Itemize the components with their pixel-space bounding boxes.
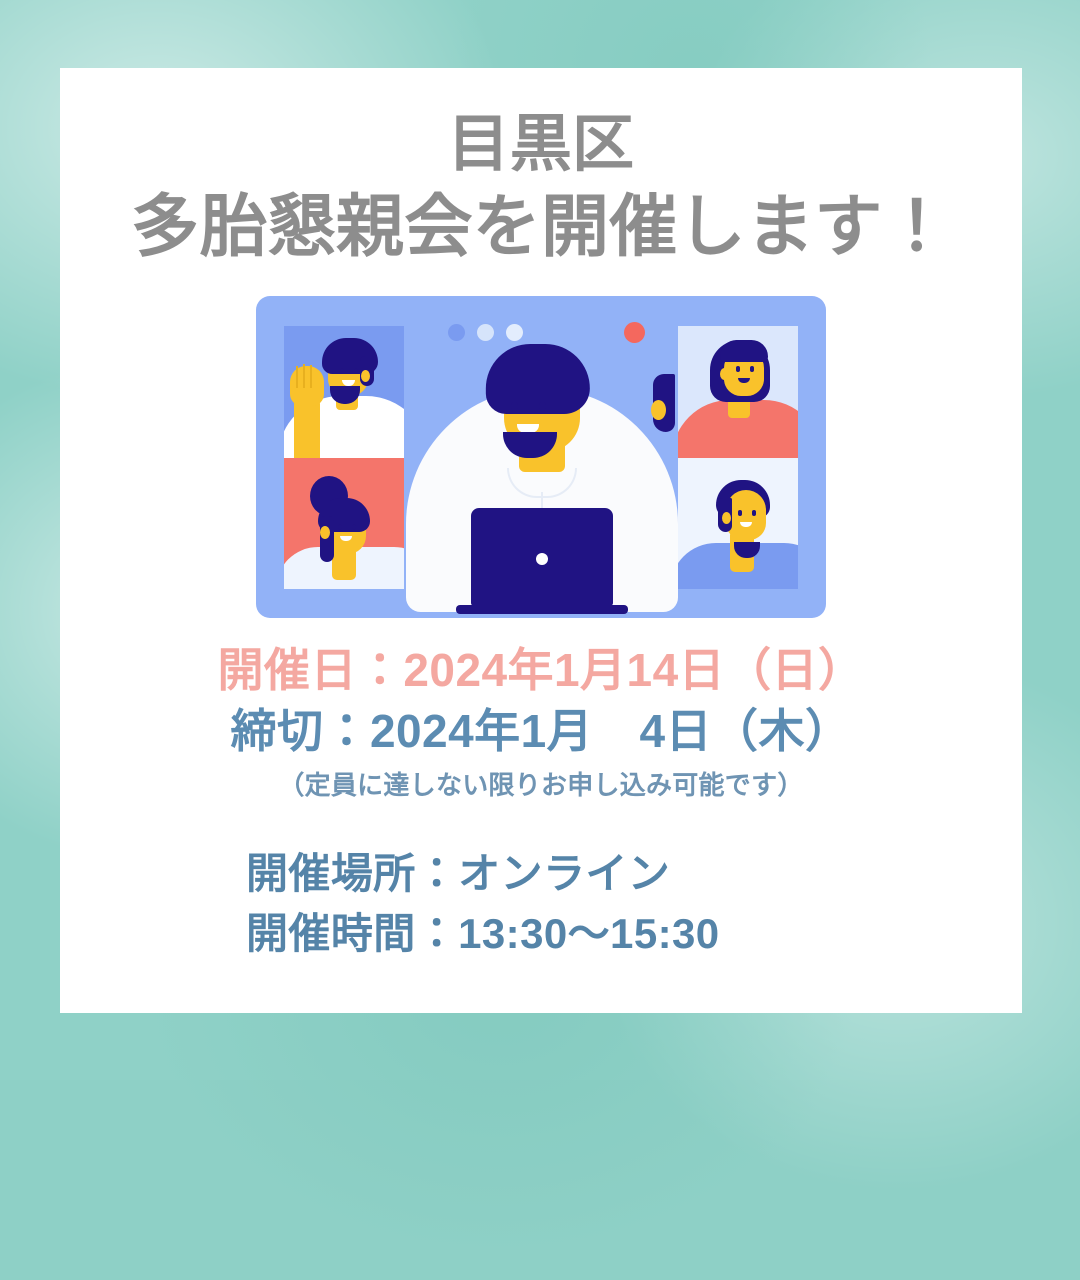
- event-place: 開催場所：オンライン: [246, 844, 1022, 904]
- event-details: 開催日：2024年1月14日（日） 締切：2024年1月 4日（木） （定員に達…: [60, 640, 1022, 964]
- video-tile-participant-2: [284, 458, 404, 590]
- video-tile-participant-4: [678, 458, 798, 590]
- presenter-ear: [651, 400, 666, 420]
- page-title: 目黒区 多胎懇親会を開催します！: [60, 108, 1022, 267]
- event-date: 開催日：2024年1月14日（日）: [60, 640, 1022, 701]
- presenter-eye: [539, 402, 546, 411]
- poster-card: 目黒区 多胎懇親会を開催します！: [60, 68, 1022, 1013]
- presenter-hair: [486, 344, 590, 414]
- video-tile-participant-1: [284, 326, 404, 458]
- video-tile-column-left: [284, 326, 404, 589]
- presenter-eye: [511, 402, 518, 411]
- presenter-figure: [411, 296, 673, 618]
- deadline-note: （定員に達しない限りお申し込み可能です）: [60, 765, 1022, 802]
- laptop-base: [456, 605, 628, 614]
- title-line-2: 多胎懇親会を開催します！: [60, 187, 1022, 267]
- application-deadline: 締切：2024年1月 4日（木）: [60, 701, 1022, 762]
- event-location-time: 開催場所：オンライン 開催時間：13:30〜15:30: [60, 844, 1022, 963]
- poster-background: 目黒区 多胎懇親会を開催します！: [0, 0, 1080, 1080]
- title-line-1: 目黒区: [60, 108, 1022, 181]
- online-meeting-illustration: [256, 296, 826, 618]
- event-time: 開催時間：13:30〜15:30: [246, 904, 1022, 964]
- laptop-icon: [471, 508, 613, 606]
- video-tile-participant-3: [678, 326, 798, 458]
- laptop-logo-icon: [536, 553, 548, 565]
- video-tile-column-right: [678, 326, 798, 589]
